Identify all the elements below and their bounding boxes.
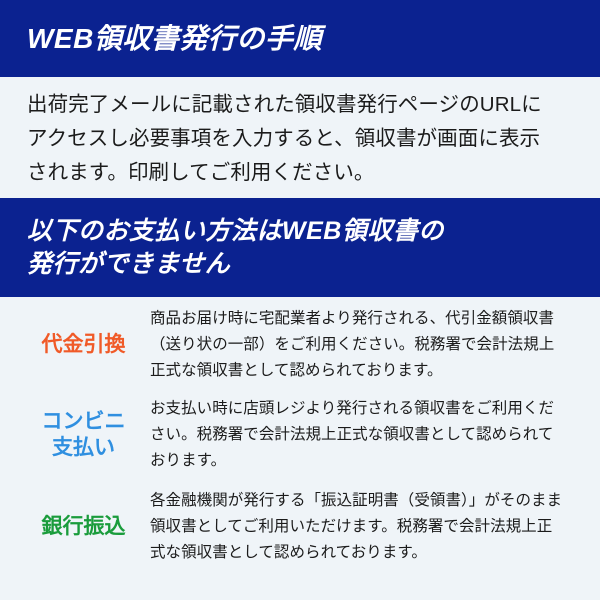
payment-method-description-conbini: お支払い時に店頭レジより発行される領収書をご利用くだ さい。税務署で会計法規上正… [150,396,572,474]
receipt-info-page: WEB領収書発行の手順 出荷完了メールに記載された領収書発行ページのURLに ア… [0,0,600,600]
payment-method-label-bank: 銀行振込 [27,514,140,540]
payment-method-description-bank: 各金融機関が発行する「振込証明書（受領書）」がそのまま 領収書としてご利用いただ… [150,488,572,566]
page-title: WEB領収書発行の手順 [27,24,322,54]
payment-method-row-conbini: コンビニ 支払い お支払い時に店頭レジより発行される領収書をご利用くだ さい。税… [0,396,600,474]
payment-method-label-conbini: コンビニ 支払い [27,409,140,461]
notice-title: 以下のお支払い方法はWEB領収書の 発行ができません [27,215,444,281]
payment-method-label-cod: 代金引換 [27,332,140,358]
payment-method-description-cod: 商品お届け時に宅配業者より発行される、代引金額領収書 （送り状の一部）をご利用く… [150,306,572,384]
notice-header-band: 以下のお支払い方法はWEB領収書の 発行ができません [0,198,600,297]
main-header-band: WEB領収書発行の手順 [0,0,600,77]
payment-method-row-bank: 銀行振込 各金融機関が発行する「振込証明書（受領書）」がそのまま 領収書としてご… [0,488,600,566]
payment-methods-list: 代金引換 商品お届け時に宅配業者より発行される、代引金額領収書 （送り状の一部）… [0,306,600,578]
payment-method-row-cod: 代金引換 商品お届け時に宅配業者より発行される、代引金額領収書 （送り状の一部）… [0,306,600,384]
intro-paragraph: 出荷完了メールに記載された領収書発行ページのURLに アクセスし必要事項を入力す… [27,88,575,190]
